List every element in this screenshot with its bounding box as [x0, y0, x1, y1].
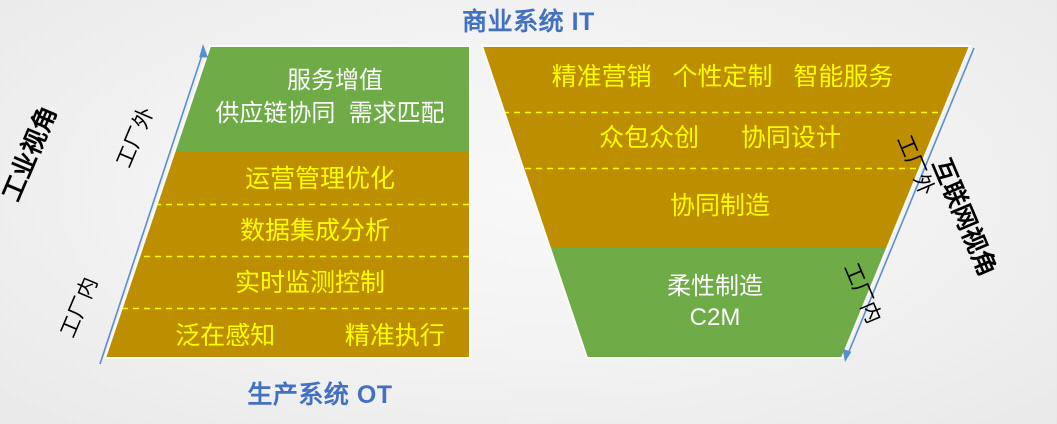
left-pyramid-shape — [100, 40, 480, 364]
left-band-2-fill — [100, 152, 480, 204]
left-band-1-fill — [100, 40, 480, 152]
pyramid-diagram — [0, 0, 1057, 424]
right-band-4-fill — [470, 248, 990, 368]
right-pyramid-shape — [470, 40, 990, 368]
left-band-4-fill — [100, 256, 480, 308]
right-band-1-fill — [470, 40, 990, 112]
page-title-bottom: 生产系统 OT — [0, 375, 640, 411]
page-title-top: 商业系统 IT — [0, 2, 1057, 38]
left-band-3-fill — [100, 204, 480, 256]
diagram-canvas: 商业系统 IT 生产系统 OT 工业视角 工厂外 工厂内 互联网视角 工厂外 工… — [0, 0, 1057, 424]
left-band-5-fill — [100, 308, 480, 364]
